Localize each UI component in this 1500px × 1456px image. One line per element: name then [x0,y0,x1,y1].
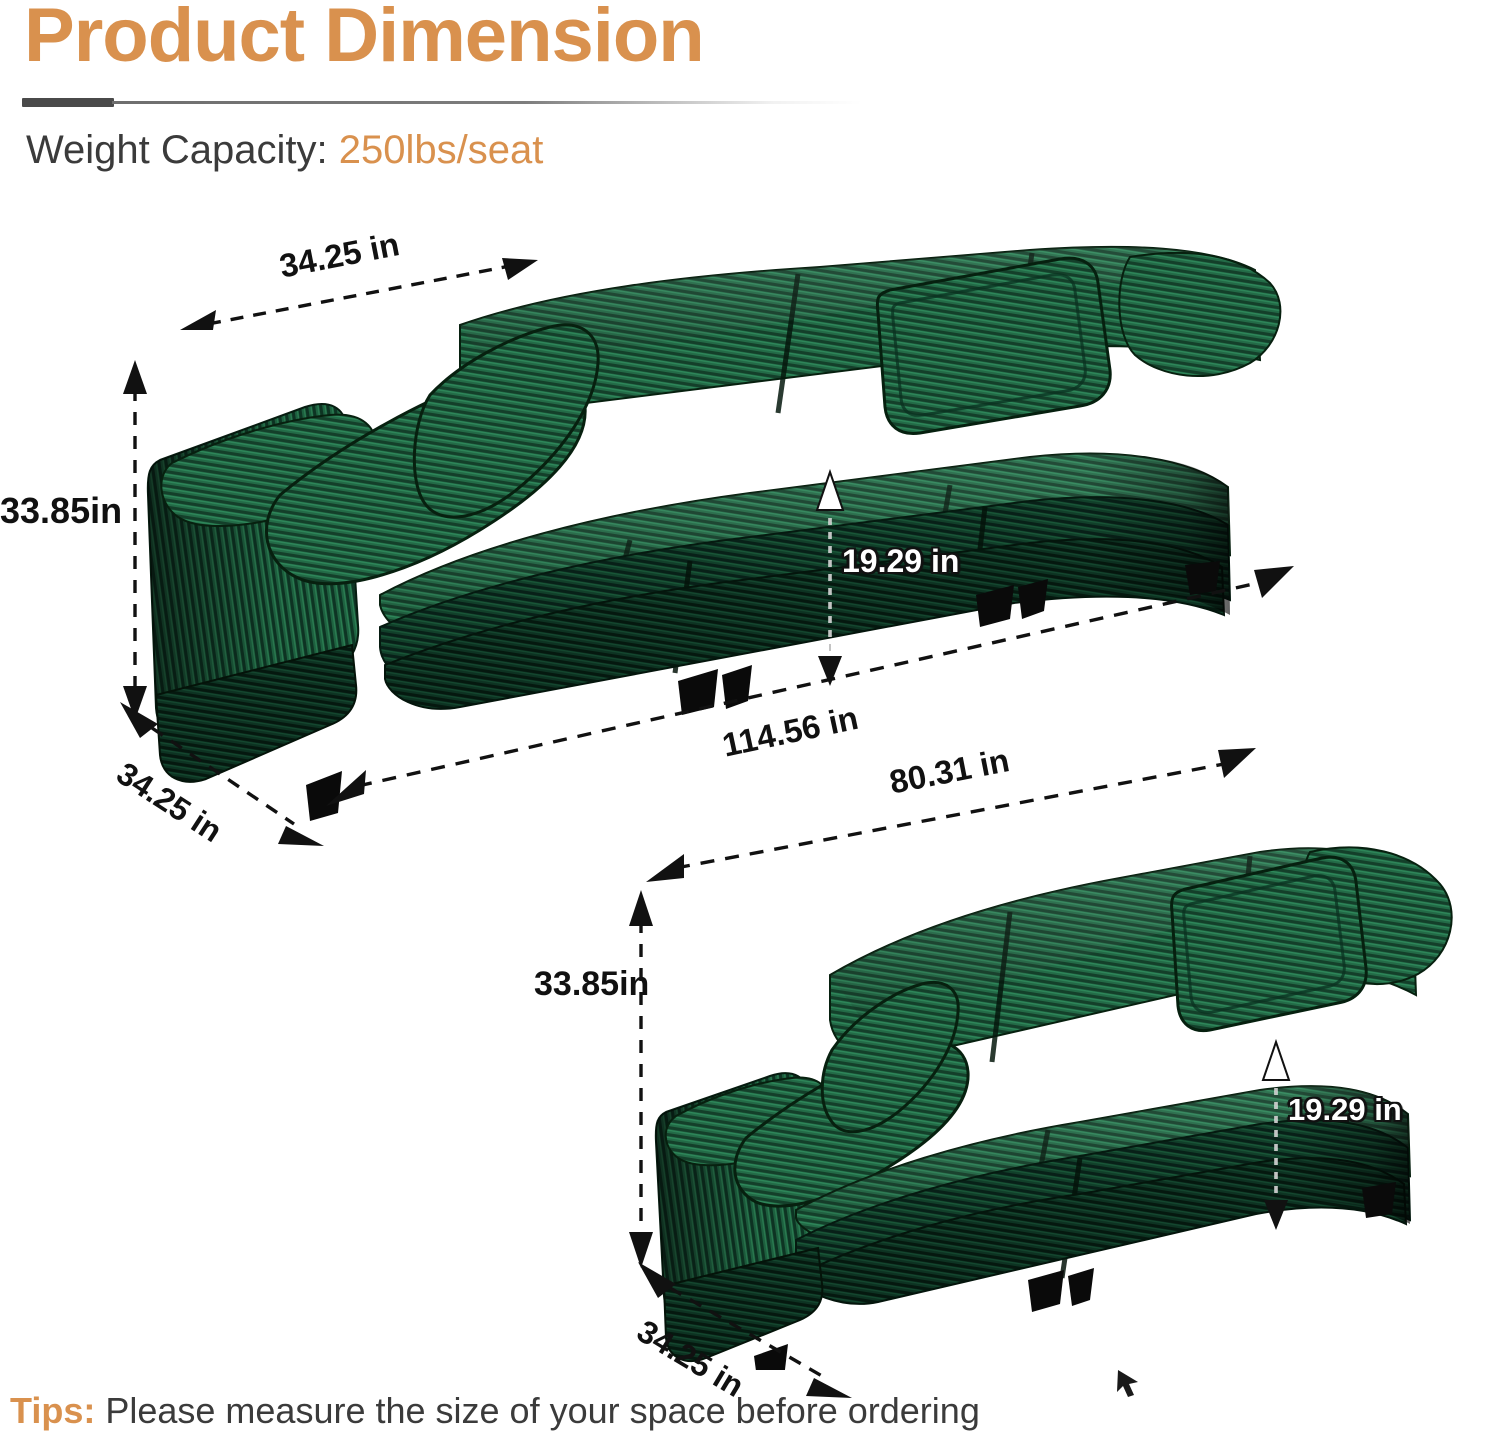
dimension-3seat-height [120,360,150,720]
dimension-3seat-seat-width: 34.25 in [180,250,540,340]
dimension-2seat-height-label: 33.85in [534,965,649,1004]
weight-capacity-line: Weight Capacity: 250lbs/seat [26,128,543,173]
dimension-3seat-height-label: 33.85in [0,490,122,532]
dimension-2seat-seat-height [1258,1040,1294,1230]
cursor-arrow-icon [1116,1368,1146,1398]
dimension-2seat-depth: 34.25 in [628,1258,858,1408]
header-block: Product Dimension Weight Capacity: 250lb… [0,0,1500,200]
weight-capacity-value: 250lbs/seat [339,128,544,172]
dimension-2seat-length: 80.31 in [640,738,1260,896]
tips-label: Tips: [10,1390,95,1431]
weight-capacity-label: Weight Capacity: [26,128,339,172]
dimension-2seat-height [626,890,656,1268]
tips-text: Please measure the size of your space be… [95,1390,980,1431]
divider-thick-segment [22,98,114,107]
tips-line: Tips: Please measure the size of your sp… [10,1390,980,1432]
page-title: Product Dimension [24,0,704,78]
dimension-2seat-seat-height-label: 19.29 in [1288,1092,1402,1128]
divider-thin-segment [112,101,862,104]
dimension-3seat-depth: 34.25 in [112,700,332,850]
header-divider [22,96,862,108]
